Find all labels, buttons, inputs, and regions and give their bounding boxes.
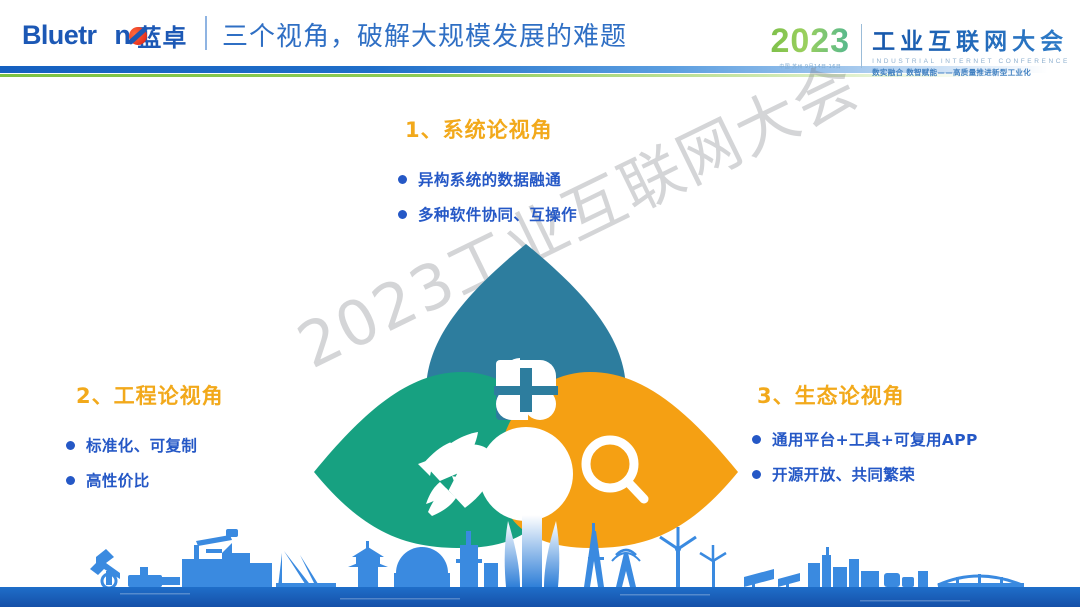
landmark-towers (505, 515, 560, 587)
bullet-dot-icon (752, 435, 761, 444)
slide-root: Bluetrn 蓝卓 三个视角，破解大规模发展的难题 2023 中国·苏州 9月… (0, 0, 1080, 607)
section-heading-engineering: 2、工程论视角 (76, 380, 224, 410)
list-item: 开源开放、共同繁荣 (752, 463, 978, 485)
water-band (0, 587, 1080, 607)
brand-logo: Bluetrn 蓝卓 (22, 18, 187, 53)
bullet-label: 异构系统的数据融通 (418, 168, 561, 190)
conference-name-en: INDUSTRIAL INTERNET CONFERENCE (872, 58, 1070, 65)
conference-name-block: 工业互联网大会 INDUSTRIAL INTERNET CONFERENCE 数… (862, 22, 1070, 78)
list-item: 通用平台+工具+可复用APP (752, 428, 978, 450)
conference-logo: 2023 中国·苏州 9月14日-16日 工业互联网大会 INDUSTRIAL … (770, 22, 1070, 76)
list-item: 高性价比 (66, 469, 197, 491)
conference-tagline: 数实融合 数智赋能——高质量推进新型工业化 (872, 67, 1070, 78)
conference-year-block: 2023 中国·苏州 9月14日-16日 (770, 22, 861, 70)
bullet-label: 通用平台+工具+可复用APP (772, 428, 978, 450)
conference-year: 2023 (770, 22, 850, 61)
bullet-dot-icon (66, 441, 75, 450)
conference-name-cn: 工业互联网大会 (872, 22, 1070, 56)
city-skyline-illustration (0, 497, 1080, 607)
section-heading-systems: 1、系统论视角 (405, 114, 553, 144)
skyline-silhouette (90, 529, 498, 588)
list-item: 标准化、可复制 (66, 434, 197, 456)
section-bullets-ecosystem: 通用平台+工具+可复用APP 开源开放、共同繁荣 (752, 428, 978, 498)
section-bullets-systems: 异构系统的数据融通 多种软件协同、互操作 (398, 168, 577, 238)
pinwheel-flower-icon (494, 358, 558, 420)
brand-name-en: Bluetrn (22, 20, 130, 51)
list-item: 异构系统的数据融通 (398, 168, 577, 190)
brand-name-en-prefix: Bluetr (22, 20, 96, 50)
section-heading-ecosystem: 3、生态论视角 (757, 380, 905, 410)
bullet-label: 开源开放、共同繁荣 (772, 463, 915, 485)
bullet-dot-icon (398, 175, 407, 184)
bullet-label: 标准化、可复制 (86, 434, 197, 456)
bullet-dot-icon (66, 476, 75, 485)
slide-header: Bluetrn 蓝卓 三个视角，破解大规模发展的难题 2023 中国·苏州 9月… (0, 0, 1080, 80)
header-divider (205, 16, 207, 50)
conference-date-location: 中国·苏州 9月14日-16日 (770, 63, 850, 70)
section-bullets-engineering: 标准化、可复制 高性价比 (66, 434, 197, 504)
list-item: 多种软件协同、互操作 (398, 203, 577, 225)
brand-name-en-suffix: n (96, 20, 130, 50)
bullet-label: 多种软件协同、互操作 (418, 203, 577, 225)
bullet-label: 高性价比 (86, 469, 150, 491)
bullet-dot-icon (752, 470, 761, 479)
page-title: 三个视角，破解大规模发展的难题 (222, 16, 627, 53)
bullet-dot-icon (398, 210, 407, 219)
